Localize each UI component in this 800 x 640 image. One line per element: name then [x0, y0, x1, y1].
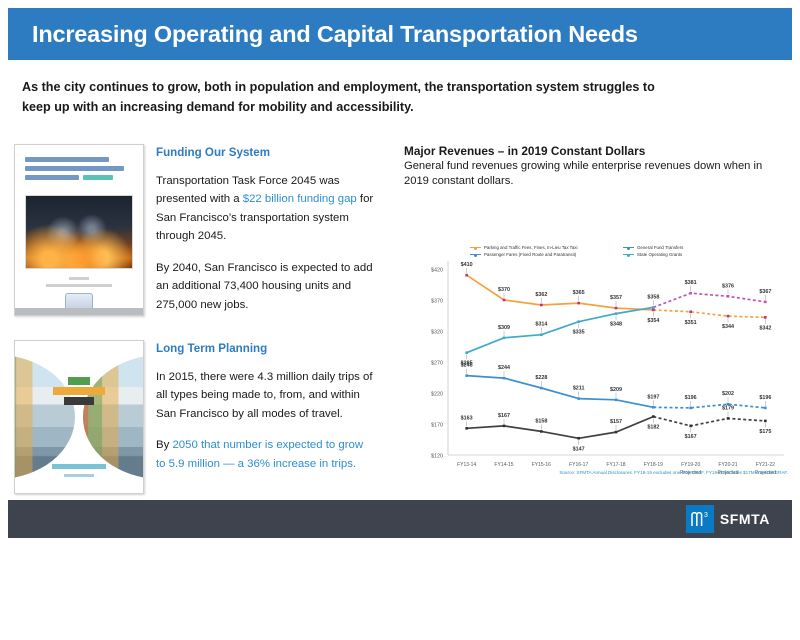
chart-source-note: Source: SFMTA Annual Disclosures. FY18-1… — [548, 470, 788, 477]
series-data-label: $163 — [461, 416, 473, 422]
series-data-label: $211 — [573, 386, 585, 392]
series-marker — [764, 317, 767, 320]
series-data-label: $196 — [759, 395, 771, 401]
series-line-actual — [467, 308, 654, 353]
transportation-task-force-2045-report-cover — [14, 144, 144, 316]
panel-paragraph: By 2050 that number is expected to grow … — [156, 436, 374, 473]
legend-label: General Fund Transfers — [637, 245, 683, 250]
series-marker — [615, 399, 618, 402]
series-data-label: $351 — [685, 320, 697, 326]
legend-item: General Fund Transfers — [623, 245, 770, 250]
x-axis-tick-label: FY20-21 — [718, 462, 737, 468]
series-marker — [540, 387, 543, 390]
series-data-label: $354 — [647, 318, 659, 324]
series-marker — [465, 352, 468, 355]
series-data-label: $348 — [610, 322, 622, 328]
slide-header-bar: Increasing Operating and Capital Transpo… — [8, 8, 792, 60]
series-data-label: $167 — [685, 434, 697, 440]
series-marker — [503, 299, 506, 302]
right-column: Major Revenues – in 2019 Constant Dollar… — [404, 144, 790, 503]
series-line-projected — [653, 294, 765, 308]
series-data-label: $335 — [573, 330, 585, 336]
chart-title: Major Revenues – in 2019 Constant Dollar… — [404, 144, 790, 158]
series-marker — [540, 304, 543, 307]
chart-series: $248$244$228$211$209$197$196$202$196 — [461, 363, 772, 410]
series-marker — [503, 377, 506, 380]
series-marker — [540, 334, 543, 337]
series-marker — [689, 425, 692, 428]
panel-heading: Long Term Planning — [156, 342, 374, 355]
x-axis-tick-label: FY18-19 — [644, 462, 663, 468]
series-data-label: $342 — [759, 326, 771, 332]
series-data-label: $248 — [461, 363, 473, 369]
left-column: Funding Our System Transportation Task F… — [14, 144, 374, 494]
panel-heading: Funding Our System — [156, 146, 374, 159]
chart-subtitle: General fund revenues growing while ente… — [404, 159, 790, 189]
series-marker — [652, 406, 655, 409]
chart-series: $163$167$158$147$157$182$167$179$175 — [461, 406, 772, 453]
legend-swatch-icon — [623, 247, 634, 248]
series-data-label: $381 — [685, 281, 697, 287]
legend-label: Passenger Fares (Fixed Route and Paratra… — [484, 252, 576, 257]
svg-text:3: 3 — [704, 512, 708, 519]
sfmta-m-cubed-icon: 3 — [686, 505, 714, 533]
series-marker — [577, 437, 580, 440]
panel-body: Funding Our System Transportation Task F… — [156, 144, 374, 316]
series-line-projected — [653, 310, 765, 318]
x-axis-tick-label: FY17-18 — [606, 462, 625, 468]
series-data-label: $367 — [759, 289, 771, 295]
series-marker — [615, 431, 618, 434]
panel-paragraph: Transportation Task Force 2045 was prese… — [156, 172, 374, 246]
series-data-label: $175 — [759, 429, 771, 435]
slide-footer-bar: 3 SFMTA — [8, 500, 792, 538]
series-marker — [727, 418, 730, 421]
series-data-label: $167 — [498, 413, 510, 419]
series-data-label: $182 — [647, 425, 659, 431]
panel-body: Long Term Planning In 2015, there were 4… — [156, 340, 374, 494]
connectsf-report-cover — [14, 340, 144, 494]
series-data-label: $365 — [573, 291, 585, 297]
series-marker — [540, 431, 543, 434]
sfmta-wordmark: SFMTA — [720, 511, 770, 527]
highlight-run: 2050 that number is expected to grow to … — [156, 439, 363, 469]
y-axis-tick-label: $220 — [431, 392, 443, 398]
series-data-label: $147 — [573, 447, 585, 453]
series-data-label: $344 — [722, 325, 734, 331]
series-marker — [689, 311, 692, 314]
chart-legend: Parking and Traffic Fees, Fines, In-Lieu… — [470, 245, 770, 257]
series-data-label: $244 — [498, 366, 510, 372]
legend-label: Parking and Traffic Fees, Fines, In-Lieu… — [484, 245, 577, 250]
y-axis-tick-label: $420 — [431, 268, 443, 274]
x-axis-tick-label: FY15-16 — [532, 462, 551, 468]
panel-paragraph: In 2015, there were 4.3 million daily tr… — [156, 368, 374, 423]
series-data-label: $358 — [647, 295, 659, 301]
series-marker — [577, 302, 580, 305]
series-marker — [727, 315, 730, 318]
series-data-label: $309 — [498, 325, 510, 331]
series-marker — [503, 425, 506, 428]
x-axis-tick-label: FY21-22 — [756, 462, 775, 468]
series-data-label: $362 — [535, 292, 547, 298]
legend-item: Passenger Fares (Fixed Route and Paratra… — [470, 252, 617, 257]
series-line-projected — [653, 417, 765, 426]
slide-subtitle: As the city continues to grow, both in p… — [22, 78, 682, 117]
panel-paragraph: By 2040, San Francisco is expected to ad… — [156, 259, 374, 314]
legend-swatch-icon — [470, 254, 481, 255]
legend-swatch-icon — [470, 247, 481, 248]
series-data-label: $370 — [498, 287, 510, 293]
y-axis-tick-label: $170 — [431, 423, 443, 429]
series-marker — [577, 321, 580, 324]
series-data-label: $157 — [610, 420, 622, 426]
series-marker — [652, 307, 655, 310]
legend-item: State Operating Grants — [623, 252, 770, 257]
x-axis-tick-label: FY19-20 — [681, 462, 700, 468]
connectsf-caption-lines — [35, 464, 123, 477]
page-title: Increasing Operating and Capital Transpo… — [8, 21, 638, 48]
legend-item: Parking and Traffic Fees, Fines, In-Lieu… — [470, 245, 617, 250]
series-data-label: $376 — [722, 284, 734, 290]
chart-canvas: $120$170$220$270$320$370$420FY13-14FY14-… — [404, 193, 790, 503]
series-marker — [615, 307, 618, 310]
series-marker — [503, 337, 506, 340]
series-data-label: $357 — [610, 296, 622, 302]
series-line-actual — [467, 376, 654, 408]
report-cover-title-lines — [25, 157, 133, 193]
series-data-label: $202 — [722, 392, 734, 398]
series-data-label: $158 — [535, 419, 547, 425]
leaf-illustration-left — [14, 355, 75, 479]
series-marker — [764, 420, 767, 423]
series-marker — [689, 292, 692, 295]
series-marker — [465, 274, 468, 277]
series-marker — [465, 375, 468, 378]
text-run: In 2015, there were 4.3 million daily tr… — [156, 371, 373, 420]
leaf-illustration-right — [83, 355, 144, 479]
y-axis-tick-label: $320 — [431, 330, 443, 336]
series-data-label: $209 — [610, 387, 622, 393]
panel-funding-our-system: Funding Our System Transportation Task F… — [14, 144, 374, 316]
y-axis-tick-label: $270 — [431, 361, 443, 367]
series-data-label: $197 — [647, 395, 659, 401]
series-data-label: $179 — [722, 406, 734, 412]
y-axis-tick-label: $120 — [431, 454, 443, 460]
series-data-label: $410 — [461, 263, 473, 269]
city-night-photo — [25, 195, 133, 269]
x-axis-tick-label: FY14-15 — [494, 462, 513, 468]
series-marker — [577, 398, 580, 401]
series-marker — [652, 416, 655, 419]
series-data-label: $196 — [685, 395, 697, 401]
major-revenues-chart: $120$170$220$270$320$370$420FY13-14FY14-… — [404, 193, 790, 503]
text-run: By — [156, 439, 172, 451]
series-line-actual — [467, 417, 654, 439]
series-marker — [689, 407, 692, 410]
sfmta-logo: 3 SFMTA — [686, 500, 784, 538]
series-marker — [727, 295, 730, 298]
legend-label: State Operating Grants — [637, 252, 682, 257]
series-marker — [764, 301, 767, 304]
slide: Increasing Operating and Capital Transpo… — [0, 0, 800, 640]
series-data-label: $314 — [535, 322, 547, 328]
series-data-label: $228 — [535, 376, 547, 382]
panel-long-term-planning: Long Term Planning In 2015, there were 4… — [14, 340, 374, 494]
series-marker — [465, 428, 468, 431]
x-axis-tick-label: FY13-14 — [457, 462, 476, 468]
y-axis-tick-label: $370 — [431, 299, 443, 305]
series-marker — [615, 313, 618, 316]
connectsf-badge — [53, 377, 105, 405]
legend-swatch-icon — [623, 254, 634, 255]
series-line-actual — [467, 276, 654, 311]
highlight-run: $22 billion funding gap — [243, 193, 357, 205]
series-line-projected — [653, 405, 765, 409]
series-marker — [652, 309, 655, 312]
x-axis-tick-label: FY16-17 — [569, 462, 588, 468]
text-run: By 2040, San Francisco is expected to ad… — [156, 262, 373, 311]
series-marker — [764, 407, 767, 410]
